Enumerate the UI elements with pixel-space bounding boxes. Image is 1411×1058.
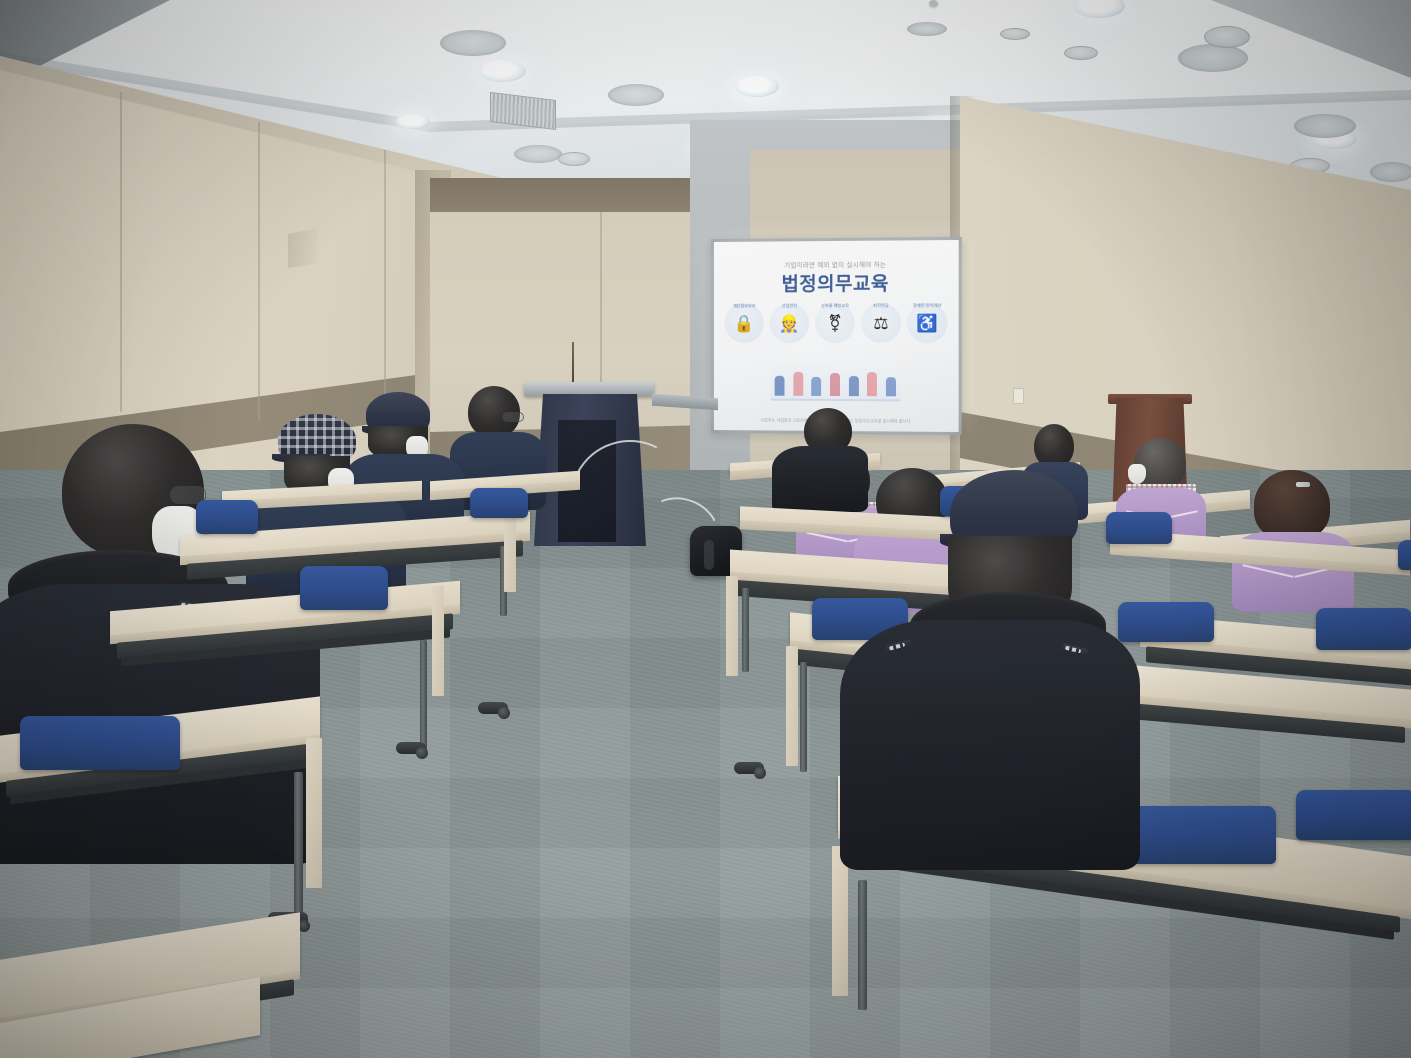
slide-figure [812, 377, 822, 396]
ceiling-speaker [1064, 46, 1098, 60]
ceiling-downlight [396, 114, 430, 129]
industrial-safety-label: 산업안전 [768, 304, 811, 309]
slide-audience-illustration [771, 363, 900, 402]
ceiling-downlight [478, 60, 526, 82]
privacy-protection-icon: 🔒 개인정보보호 [724, 303, 765, 355]
privacy-protection-glyph: 🔒 [725, 303, 764, 343]
disability-awareness-glyph: ♿ [907, 303, 947, 343]
ceiling-speaker [1000, 28, 1030, 40]
wall-speaker-icon [288, 228, 318, 268]
ceiling-speaker [558, 152, 590, 166]
retirement-pension-label: 퇴직연금 [859, 304, 903, 309]
chair-seat[interactable] [1398, 540, 1411, 570]
industrial-safety-icon: 👷 산업안전 [769, 303, 810, 355]
slide-icon-row: 🔒 개인정보보호 👷 산업안전 ⚧ 성희롱 예방교육 ⚖ 퇴직연금 ♿ [724, 303, 949, 360]
harassment-prevention-label: 성희롱 예방교육 [813, 304, 857, 309]
slide-figure [830, 373, 840, 396]
torso [840, 620, 1140, 870]
retirement-pension-icon: ⚖ 퇴직연금 [860, 303, 902, 355]
seat-cushion [1296, 790, 1411, 840]
chair-seat[interactable] [1296, 790, 1411, 840]
wall-panel-seam [384, 150, 386, 430]
seat-cushion [20, 716, 180, 770]
slide-figure [775, 376, 785, 396]
wall-panel-seam [120, 92, 122, 412]
disability-awareness-label: 장애인 인식개선 [905, 304, 949, 309]
wall-power-outlet [1013, 388, 1024, 404]
chair-seat[interactable] [196, 500, 258, 534]
chair-seat[interactable] [300, 566, 388, 610]
ceiling-downlight-off [1370, 162, 1411, 182]
table-side-panel [432, 586, 444, 696]
chair-seat[interactable] [470, 488, 528, 518]
table-leg [800, 662, 807, 772]
slide-figure [793, 372, 803, 396]
harassment-prevention-icon: ⚧ 성희롱 예방교육 [814, 303, 856, 355]
industrial-safety-glyph: 👷 [770, 303, 809, 343]
chair-seat[interactable] [20, 716, 180, 770]
head [1254, 470, 1330, 540]
slide-figure [848, 376, 858, 396]
podium-microphone [572, 342, 574, 384]
classroom-scene: 기업이라면 예외 없이 실시해야 하는 법정의무교육 🔒 개인정보보호 👷 산업… [0, 0, 1411, 1058]
seat-cushion [300, 566, 388, 610]
ceiling-downlight-off [514, 145, 562, 163]
table-leg [294, 772, 303, 922]
table-side-panel [306, 738, 322, 888]
slide-figure [867, 372, 877, 396]
ceiling-speaker [1204, 26, 1250, 48]
glasses [502, 412, 524, 422]
table-leg [858, 880, 867, 1010]
ceiling-downlight-off [1178, 44, 1248, 72]
ceiling-sprinkler [929, 0, 938, 7]
attendee-right-d [1240, 470, 1350, 600]
projection-screen: 기업이라면 예외 없이 실시해야 하는 법정의무교육 🔒 개인정보보호 👷 산업… [711, 237, 962, 435]
disability-awareness-icon: ♿ 장애인 인식개선 [906, 303, 948, 356]
table-leg [420, 640, 427, 750]
seat-cushion [196, 500, 258, 534]
slide-figure [886, 377, 896, 396]
table-caster [734, 762, 764, 774]
ceiling-downlight-off [907, 22, 947, 36]
seat-cushion [1316, 608, 1411, 650]
chair-seat[interactable] [1316, 608, 1411, 650]
table-leg [742, 588, 749, 672]
presentation-slide: 기업이라면 예외 없이 실시해야 하는 법정의무교육 🔒 개인정보보호 👷 산업… [714, 240, 959, 432]
harassment-prevention-glyph: ⚧ [815, 303, 855, 343]
hair-clip [1296, 482, 1310, 487]
table-caster [396, 742, 426, 754]
table-caster [478, 702, 508, 714]
table-side-panel [726, 576, 738, 676]
seat-cushion [470, 488, 528, 518]
seat-cushion [1398, 540, 1411, 570]
table-side-panel [786, 646, 798, 766]
wall-panel-seam [258, 122, 260, 422]
ceiling-downlight-off [440, 30, 506, 56]
ceiling-downlight-off [1294, 114, 1356, 138]
ceiling-downlight-off [608, 84, 664, 106]
privacy-protection-label: 개인정보보호 [723, 304, 766, 309]
retirement-pension-glyph: ⚖ [861, 303, 901, 343]
slide-title: 법정의무교육 [714, 268, 959, 296]
ceiling-downlight [735, 76, 779, 97]
attendee-right-front [840, 470, 1140, 870]
